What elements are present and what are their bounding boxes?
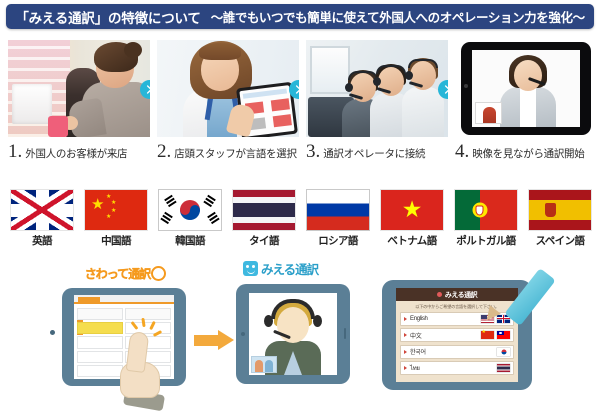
sawatte-logo-text: さわって通訳 xyxy=(85,265,150,282)
language-item-vietnamese: ★ ベトナム語 xyxy=(378,190,446,248)
step-caption: 3. 通訳オペレータに接続 xyxy=(306,142,448,161)
portugal-flag xyxy=(455,190,517,230)
bird-icon xyxy=(151,266,166,281)
language-label: ポルトガル語 xyxy=(452,233,520,248)
operator-video-tablet xyxy=(236,284,350,384)
south-korea-flag xyxy=(159,190,221,230)
step-caption: 4. 映像を見ながら通訳開始 xyxy=(455,142,597,161)
shop-customer-photo xyxy=(8,40,150,137)
uk-flag xyxy=(11,190,73,230)
app-instruction: 以下の中からご希望の言語を選択して下さい。 xyxy=(396,301,518,312)
mieru-tsuyaku-logo: みえる通訳 xyxy=(243,258,343,278)
bullet-icon xyxy=(404,366,407,370)
app-language-row-english[interactable]: English xyxy=(400,312,514,326)
app-language-name: ไทย xyxy=(410,363,420,373)
step-label: 通訳オペレータに接続 xyxy=(323,146,425,161)
language-item-spanish: スペイン語 xyxy=(526,190,594,248)
mieru-logo-text: みえる通訳 xyxy=(261,259,318,278)
arrow-right-icon xyxy=(194,330,234,350)
taiwan-flag xyxy=(497,331,510,339)
page-header-banner: 「みえる通訳」の特徴について ～誰でもいつでも簡単に使えて外国人へのオペレーショ… xyxy=(6,4,594,29)
supported-languages-row: 英語 ★ ★★ ★★ 中国語 韓国語 タイ語 ロシア語 ★ ベトナム語 ポルトガ… xyxy=(0,190,600,250)
step-number: 1. xyxy=(8,142,22,161)
language-label: ロシア語 xyxy=(304,233,372,248)
step-label: 映像を見ながら通訳開始 xyxy=(472,146,584,161)
spain-flag xyxy=(529,190,591,230)
step-caption: 2. 店頭スタッフが言語を選択 xyxy=(157,142,299,161)
page-title: 「みえる通訳」の特徴について xyxy=(15,7,200,27)
language-item-thai: タイ語 xyxy=(230,190,298,248)
bullet-icon xyxy=(404,350,407,354)
app-language-name: 中文 xyxy=(410,331,421,340)
south-korea-flag xyxy=(497,348,510,356)
china-flag xyxy=(481,331,494,339)
mieru-face-icon xyxy=(243,261,258,276)
language-label: スペイン語 xyxy=(526,233,594,248)
language-item-russian: ロシア語 xyxy=(304,190,372,248)
uk-flag xyxy=(497,315,510,323)
step-number: 2. xyxy=(157,142,171,161)
hand-tapping-icon xyxy=(120,332,164,406)
bullet-icon xyxy=(404,333,407,337)
bullet-icon xyxy=(404,317,407,321)
step-item-3: 3. 通訳オペレータに接続 xyxy=(306,40,448,161)
language-item-korean: 韓国語 xyxy=(156,190,224,248)
step-item-2: 2. 店頭スタッフが言語を選択 xyxy=(157,40,299,161)
step-number: 4. xyxy=(455,142,469,161)
app-language-name: 한국어 xyxy=(410,347,426,356)
app-language-row-korean[interactable]: 한국어 xyxy=(400,345,514,359)
tablet-video-call-photo xyxy=(455,40,597,137)
thailand-flag xyxy=(233,190,295,230)
china-flag: ★ ★★ ★★ xyxy=(85,190,147,230)
us-flag xyxy=(481,315,494,323)
step-label: 外国人のお客様が来店 xyxy=(25,146,127,161)
product-flow-illustration: さわって通訳 みえる通訳 xyxy=(0,252,600,400)
language-label: 英語 xyxy=(8,233,76,248)
step-caption: 1. 外国人のお客様が来店 xyxy=(8,142,150,161)
language-label: タイ語 xyxy=(230,233,298,248)
language-label: ベトナム語 xyxy=(378,233,446,248)
language-item-english: 英語 xyxy=(8,190,76,248)
app-language-name: English xyxy=(410,316,428,322)
steps-row: 1. 外国人のお客様が来店 2. 店頭スタッフが言 xyxy=(0,40,600,165)
language-label: 中国語 xyxy=(82,233,150,248)
app-language-row-chinese[interactable]: 中文 xyxy=(400,328,514,342)
page-subtitle: ～誰でもいつでも簡単に使えて外国人へのオペレーション力を強化～ xyxy=(211,7,585,26)
vietnam-flag: ★ xyxy=(381,190,443,230)
call-center-photo xyxy=(306,40,448,137)
app-language-list: English 中文 한국어 xyxy=(396,312,518,376)
thailand-flag xyxy=(497,364,510,372)
language-label: 韓国語 xyxy=(156,233,224,248)
app-language-row-thai[interactable]: ไทย xyxy=(400,361,514,375)
app-title-bar: みえる通訳 xyxy=(396,288,518,301)
step-item-4: 4. 映像を見ながら通訳開始 xyxy=(455,40,597,161)
step-number: 3. xyxy=(306,142,320,161)
step-label: 店頭スタッフが言語を選択 xyxy=(174,146,296,161)
sawatte-tsuyaku-logo: さわって通訳 xyxy=(74,262,178,284)
language-item-portuguese: ポルトガル語 xyxy=(452,190,520,248)
language-item-chinese: ★ ★★ ★★ 中国語 xyxy=(82,190,150,248)
step-item-1: 1. 外国人のお客様が来店 xyxy=(8,40,150,161)
app-title: みえる通訳 xyxy=(445,290,477,300)
russia-flag xyxy=(307,190,369,230)
touch-menu-tablet xyxy=(62,288,186,386)
staff-tablet-photo xyxy=(157,40,299,137)
language-select-tablet: みえる通訳 以下の中からご希望の言語を選択して下さい。 English 中文 xyxy=(382,280,532,390)
app-logo-icon xyxy=(437,292,442,297)
